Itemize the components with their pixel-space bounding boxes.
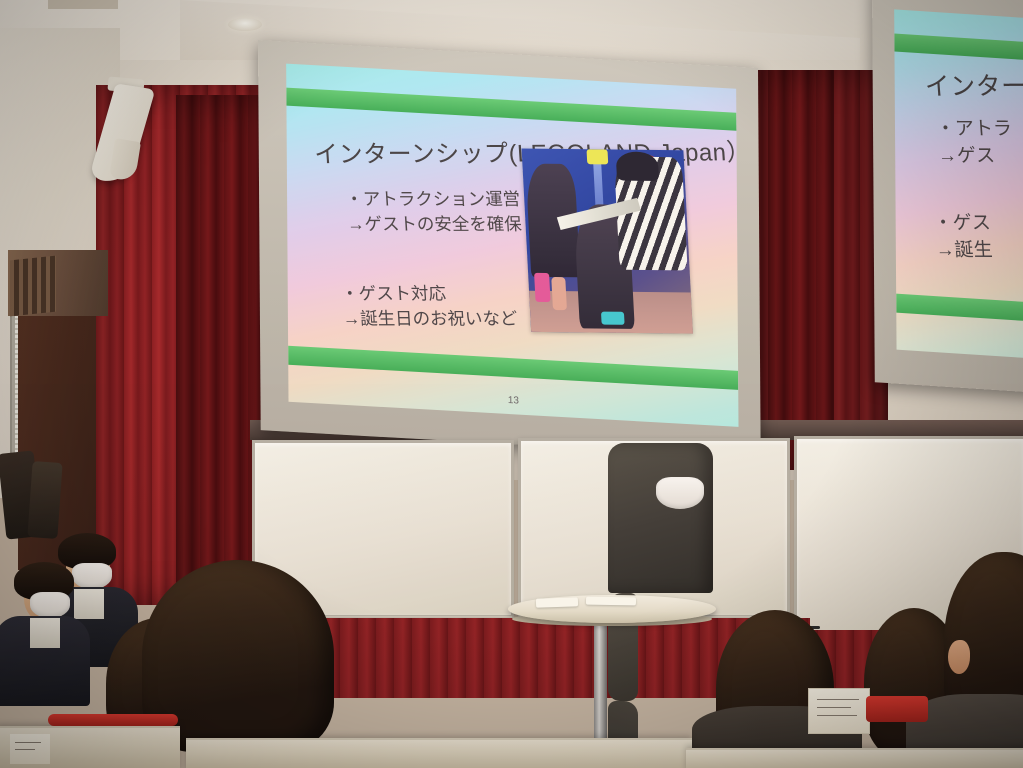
slide-bullet-block-1: ・アトラクション運営 →ゲストの安全を確保 [344,187,522,237]
slide-photo [521,148,692,333]
audience-ear [948,640,970,674]
presenter-jacket [608,443,713,593]
handout-paper [808,688,870,734]
slide-accent-bar-bottom [288,346,738,390]
red-stage-curtain-center-fold [768,70,834,470]
wooden-column-slats [10,256,56,317]
slide-bullet-1: ・アトラクション運営 [344,187,520,212]
lecture-hall-scene: インターンシップ(LEGOLAND Japan） ・アトラクション運営 →ゲスト… [0,0,1023,768]
desk-paper-left [10,734,50,764]
slide2-accent-bar-bottom [896,293,1023,331]
slide2-title: インターン [923,66,1023,103]
desk-red-item [48,714,178,726]
audience-desk-center [186,738,692,768]
ceiling-light [228,18,262,31]
table-stem [594,620,607,740]
red-folder [866,696,928,722]
table-paper-1 [536,597,578,607]
slide-page-number: 13 [288,382,738,418]
presenter-face-mask [656,477,704,509]
slide2-arrow-2: →誕生 [935,238,994,265]
audience-collar [30,618,60,648]
slide-bullet-2: ・ゲスト対応 [340,281,516,306]
slide2-bullet-block-2: ・ゲス →誕生 [933,211,994,265]
slide2-arrow-1: →ゲス [937,144,1015,171]
slide-arrow-1: →ゲストの安全を確保 [346,212,522,237]
audience-desk-right [686,748,1023,768]
table-paper-2 [586,597,636,606]
slide-arrow-2: →誕生日のお祝いなど [342,306,518,331]
slide-bullet-block-2: ・ゲスト対応 →誕生日のお祝いなど [340,281,518,331]
photo-pink-object [534,273,550,302]
slide-accent-bar-top [286,87,736,131]
slide-secondary: インターン ・アトラ →ゲス ・ゲス →誕生 [894,9,1023,369]
secondary-projection-screen: インターン ・アトラ →ゲス ・ゲス →誕生 [872,0,1023,398]
ceiling-vent [48,0,118,9]
photo-yellow-sign [586,149,608,164]
slide-main: インターンシップ(LEGOLAND Japan） ・アトラクション運営 →ゲスト… [286,64,738,427]
audience-member-left-front [6,562,96,682]
slide2-bullet-2: ・ゲス [933,211,992,238]
slide2-bullet-1: ・アトラ [935,117,1013,144]
photo-teal-object [601,312,624,325]
audience-face-mask [30,592,70,618]
photo-guest-leg [550,276,566,309]
slide2-bullet-block-1: ・アトラ →ゲス [935,117,1015,171]
stacked-chair-2 [27,461,62,539]
main-projection-screen: インターンシップ(LEGOLAND Japan） ・アトラクション運営 →ゲスト… [258,40,761,458]
